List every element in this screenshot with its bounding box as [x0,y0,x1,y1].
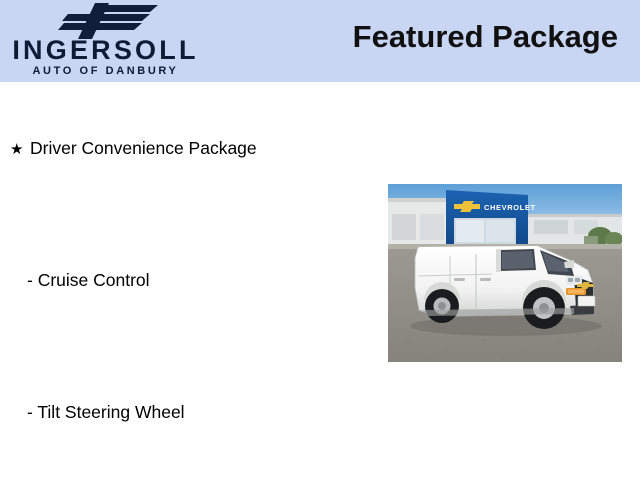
dealer-wordmark: INGERSOLL [8,36,203,64]
header-band: INGERSOLL AUTO OF DANBURY Featured Packa… [0,0,640,82]
svg-text:CHEVROLET: CHEVROLET [484,203,536,212]
content-area: ★Driver Convenience Package - Cruise Con… [0,82,640,480]
feature-label-tilt-steering-wheel: - Tilt Steering Wheel [27,402,185,422]
dealer-logo: INGERSOLL AUTO OF DANBURY [0,0,210,82]
dealer-tagline: AUTO OF DANBURY [8,65,203,78]
feature-label-cruise-control: - Cruise Control [27,270,150,290]
star-bullet-icon: ★ [10,140,30,158]
feature-item-sub: - Tilt Steering Wheel [27,402,185,423]
feature-label-package: Driver Convenience Package [30,138,257,158]
page-title: Featured Package [353,19,618,55]
feature-item-main: ★Driver Convenience Package [10,138,257,159]
vehicle-photo: CHEVROLET [388,184,622,362]
feature-item-sub: - Cruise Control [27,270,150,291]
